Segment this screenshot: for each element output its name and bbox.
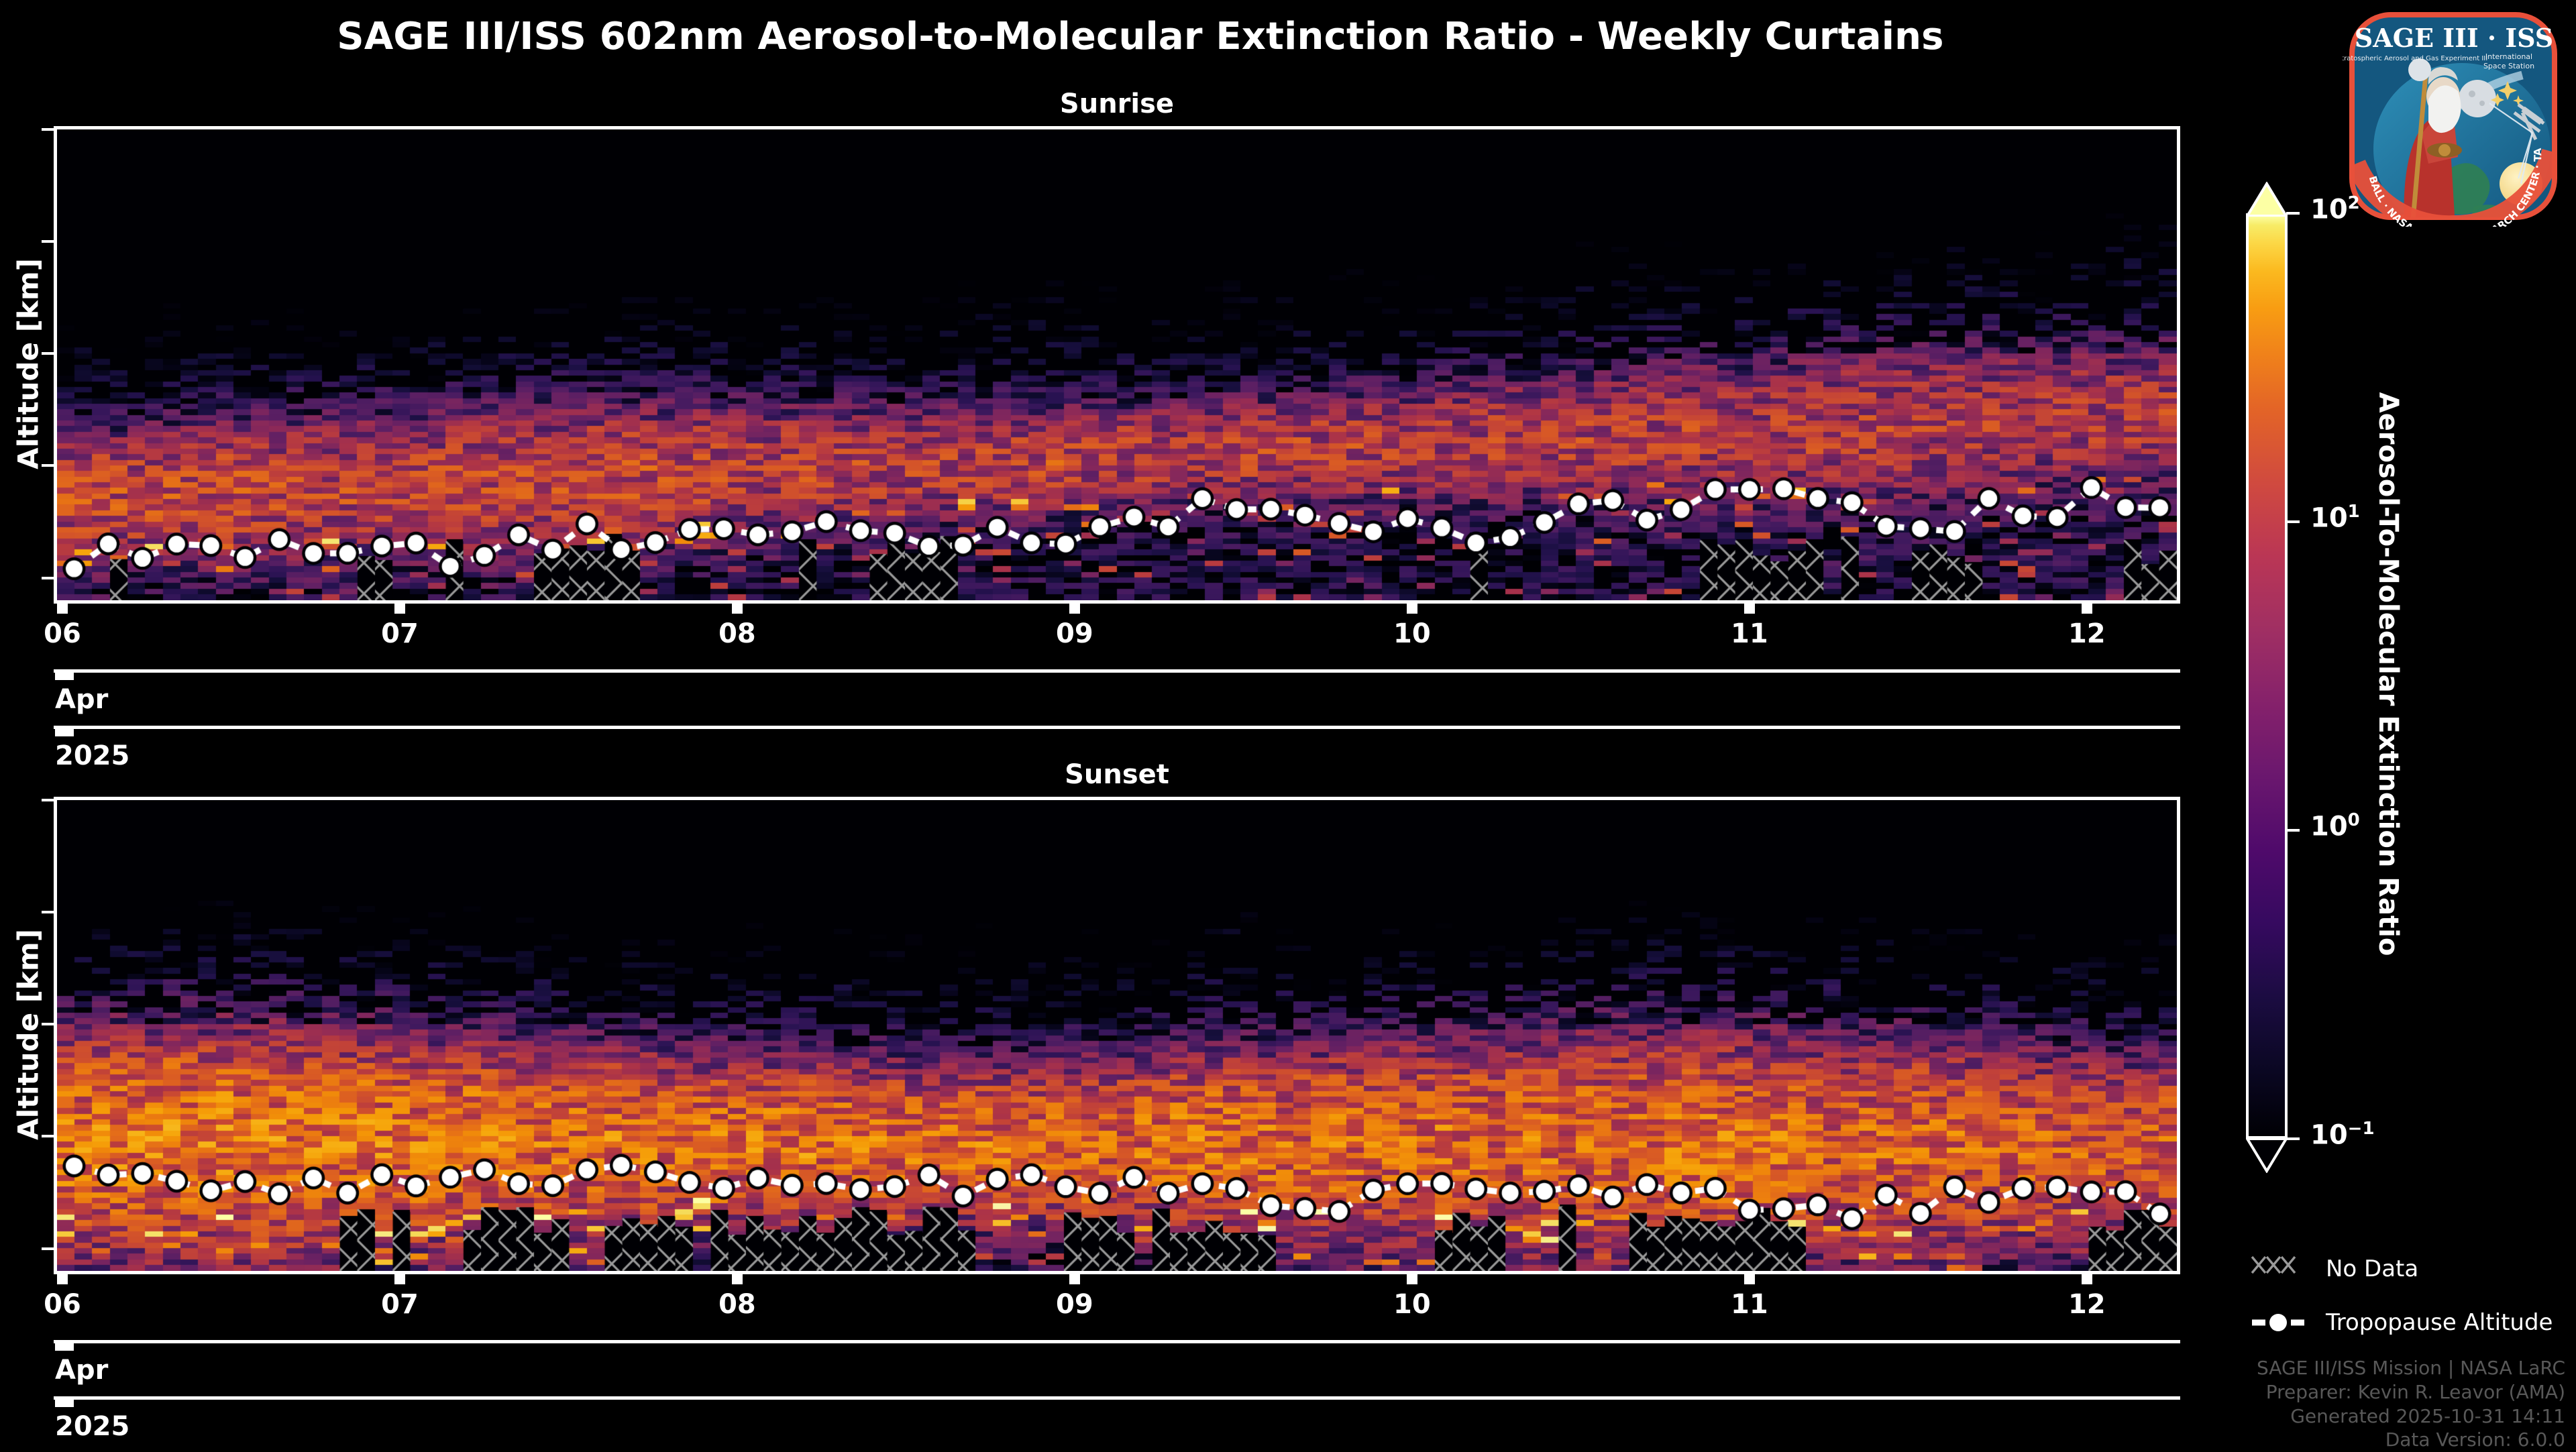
colorbar-tick-label: 101 — [2310, 502, 2360, 533]
colorbar-tick-mark — [2286, 212, 2300, 215]
footer-credits: SAGE III/ISS Mission | NASA LaRCPreparer… — [2257, 1356, 2565, 1452]
legend-item-no-data: No Data — [2251, 1254, 2418, 1284]
colorbar-ticks: 10210110010−1 — [0, 0, 2576, 1449]
colorbar-tick-mark — [2286, 829, 2300, 832]
colorbar-tick-label: 102 — [2310, 193, 2360, 225]
footer-line: Preparer: Kevin R. Leavor (AMA) — [2257, 1380, 2565, 1404]
legend-item-tropopause: Tropopause Altitude — [2251, 1308, 2553, 1337]
legend-label-no-data: No Data — [2326, 1255, 2418, 1282]
no-data-hatch-icon — [2251, 1254, 2308, 1284]
footer-line: Generated 2025-10-31 14:11 — [2257, 1404, 2565, 1429]
footer-line: SAGE III/ISS Mission | NASA LaRC — [2257, 1356, 2565, 1380]
colorbar-tick-mark — [2286, 520, 2300, 523]
colorbar-tick-label: 100 — [2310, 810, 2360, 842]
colorbar-tick-label: 10−1 — [2310, 1119, 2375, 1150]
tropopause-marker-icon — [2251, 1308, 2308, 1337]
colorbar-axis-label: Aerosol-To-Molecular Extinction Ratio — [2373, 211, 2404, 1137]
legend-label-tropopause: Tropopause Altitude — [2326, 1309, 2553, 1336]
colorbar-tick-mark — [2286, 1137, 2300, 1140]
